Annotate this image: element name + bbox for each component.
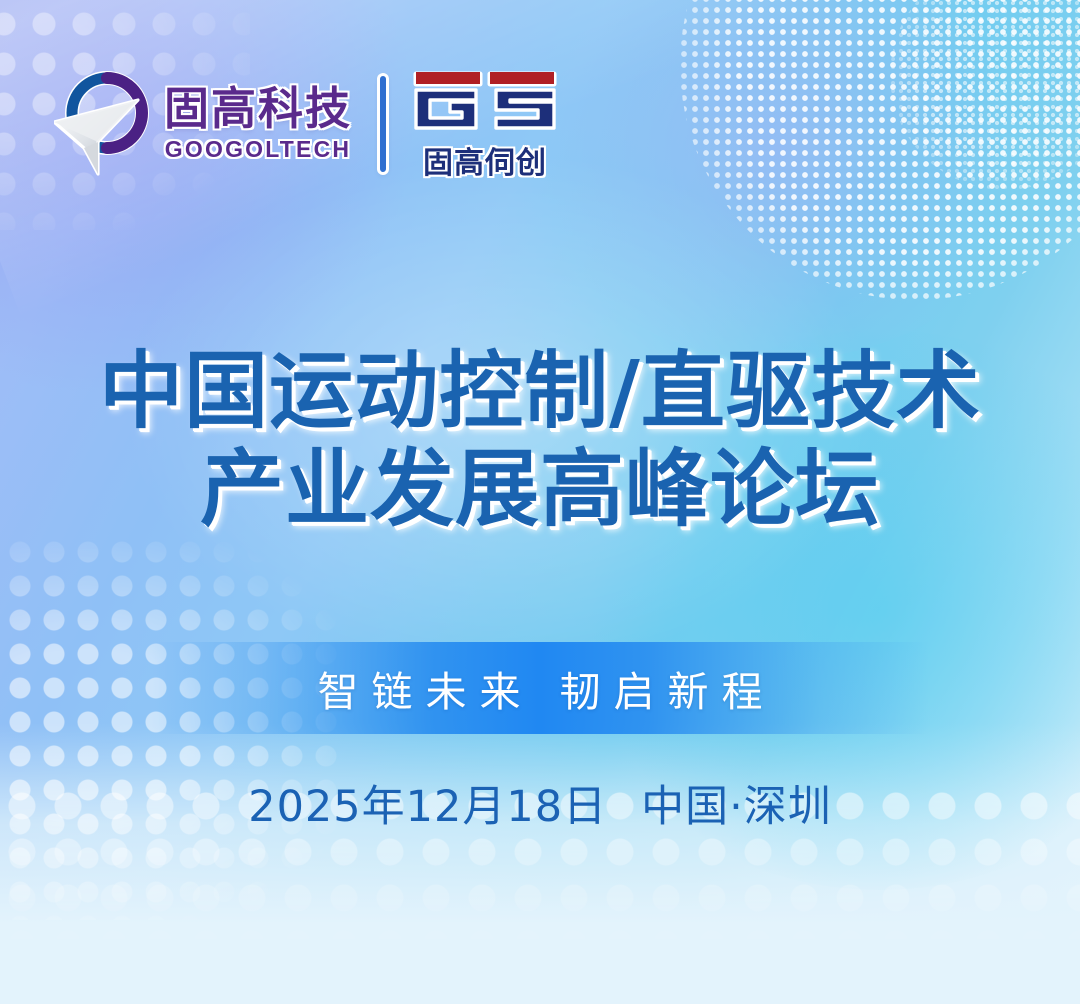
googoltech-ring-arrow-mark-icon: [54, 70, 158, 178]
googoltech-name-en: GOOGOLTECH: [165, 136, 351, 163]
logo-lockup: 固高科技 GOOGOLTECH: [54, 66, 560, 182]
gs-brand-lockup: 固高伺创: [410, 66, 560, 182]
event-location: 中国·深圳: [641, 782, 832, 832]
event-title-line-1: 中国运动控制/直驱技术: [26, 342, 1054, 440]
event-title-line-2: 产业发展高峰论坛: [26, 440, 1054, 538]
violet-gradient-bloom: [0, 0, 440, 400]
slogan-text: 智链未来 韧启新程: [304, 658, 775, 718]
googoltech-name-cn: 固高科技: [164, 85, 352, 132]
slogan-band: 智链未来 韧启新程: [0, 642, 1080, 734]
gs-monogram-icon: [410, 66, 560, 136]
logo-divider: [380, 76, 386, 172]
event-meta: 2025年12月18日中国·深圳: [0, 772, 1080, 834]
event-banner: 固高科技 GOOGOLTECH: [0, 0, 1080, 1004]
googoltech-wordmark: 固高科技 GOOGOLTECH: [164, 85, 352, 163]
gs-name-cn: 固高伺创: [423, 138, 547, 182]
event-date: 2025年12月18日: [248, 782, 607, 832]
event-title: 中国运动控制/直驱技术 产业发展高峰论坛: [0, 342, 1080, 539]
